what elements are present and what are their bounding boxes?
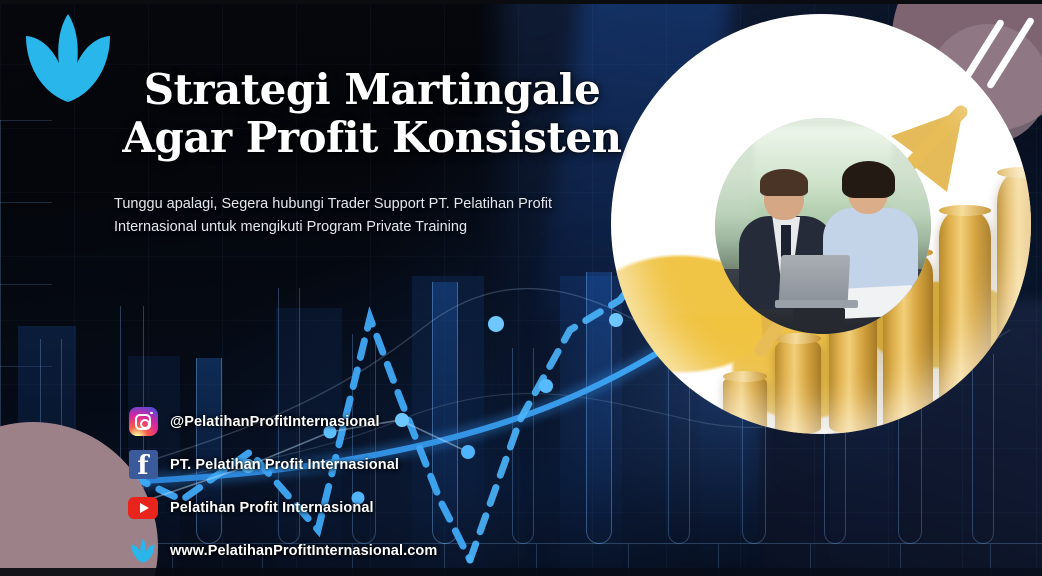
people-photo — [715, 118, 931, 334]
page-title: Strategi Martingale Agar Profit Konsiste… — [112, 66, 632, 162]
headline-line-2: Agar Profit Konsisten — [112, 114, 632, 162]
social-label-website: www.PelatihanProfitInternasional.com — [170, 543, 437, 559]
social-label-facebook: PT. Pelatihan Profit Internasional — [170, 457, 399, 473]
social-label-youtube: Pelatihan Profit Internasional — [170, 500, 374, 516]
social-item-instagram[interactable]: @PelatihanProfitInternasional — [128, 400, 548, 443]
social-item-youtube[interactable]: Pelatihan Profit Internasional — [128, 486, 548, 529]
circular-photo-content — [611, 14, 1031, 434]
headline-line-1: Strategi Martingale — [144, 65, 601, 114]
website-lotus-icon — [128, 536, 158, 566]
poster-canvas: Strategi Martingale Agar Profit Konsiste… — [0, 0, 1042, 576]
instagram-icon — [128, 407, 158, 437]
facebook-icon: f — [128, 450, 158, 480]
top-border — [0, 0, 1042, 4]
bottom-border — [0, 568, 1042, 576]
social-links-list: @PelatihanProfitInternasional f PT. Pela… — [128, 400, 548, 572]
lotus-leaf-icon — [18, 8, 118, 110]
social-item-facebook[interactable]: f PT. Pelatihan Profit Internasional — [128, 443, 548, 486]
calculator — [793, 308, 845, 330]
subtitle-text: Tunggu apalagi, Segera hubungi Trader Su… — [114, 193, 584, 240]
laptop — [775, 261, 857, 313]
youtube-icon — [128, 493, 158, 523]
social-label-instagram: @PelatihanProfitInternasional — [170, 414, 380, 430]
circular-photo-frame — [611, 14, 1031, 434]
social-item-website[interactable]: www.PelatihanProfitInternasional.com — [128, 529, 548, 572]
